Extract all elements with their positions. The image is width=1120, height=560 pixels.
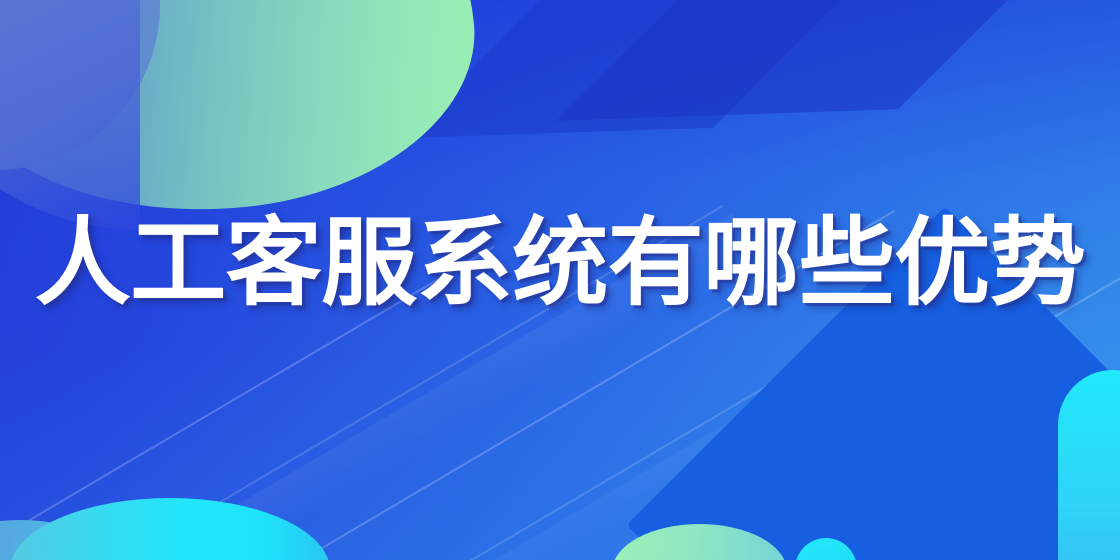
banner-headline: 人工客服系统有哪些优势 xyxy=(35,216,1086,312)
hero-banner: 人工客服系统有哪些优势 xyxy=(0,0,1120,560)
headline-container: 人工客服系统有哪些优势 xyxy=(0,0,1120,560)
